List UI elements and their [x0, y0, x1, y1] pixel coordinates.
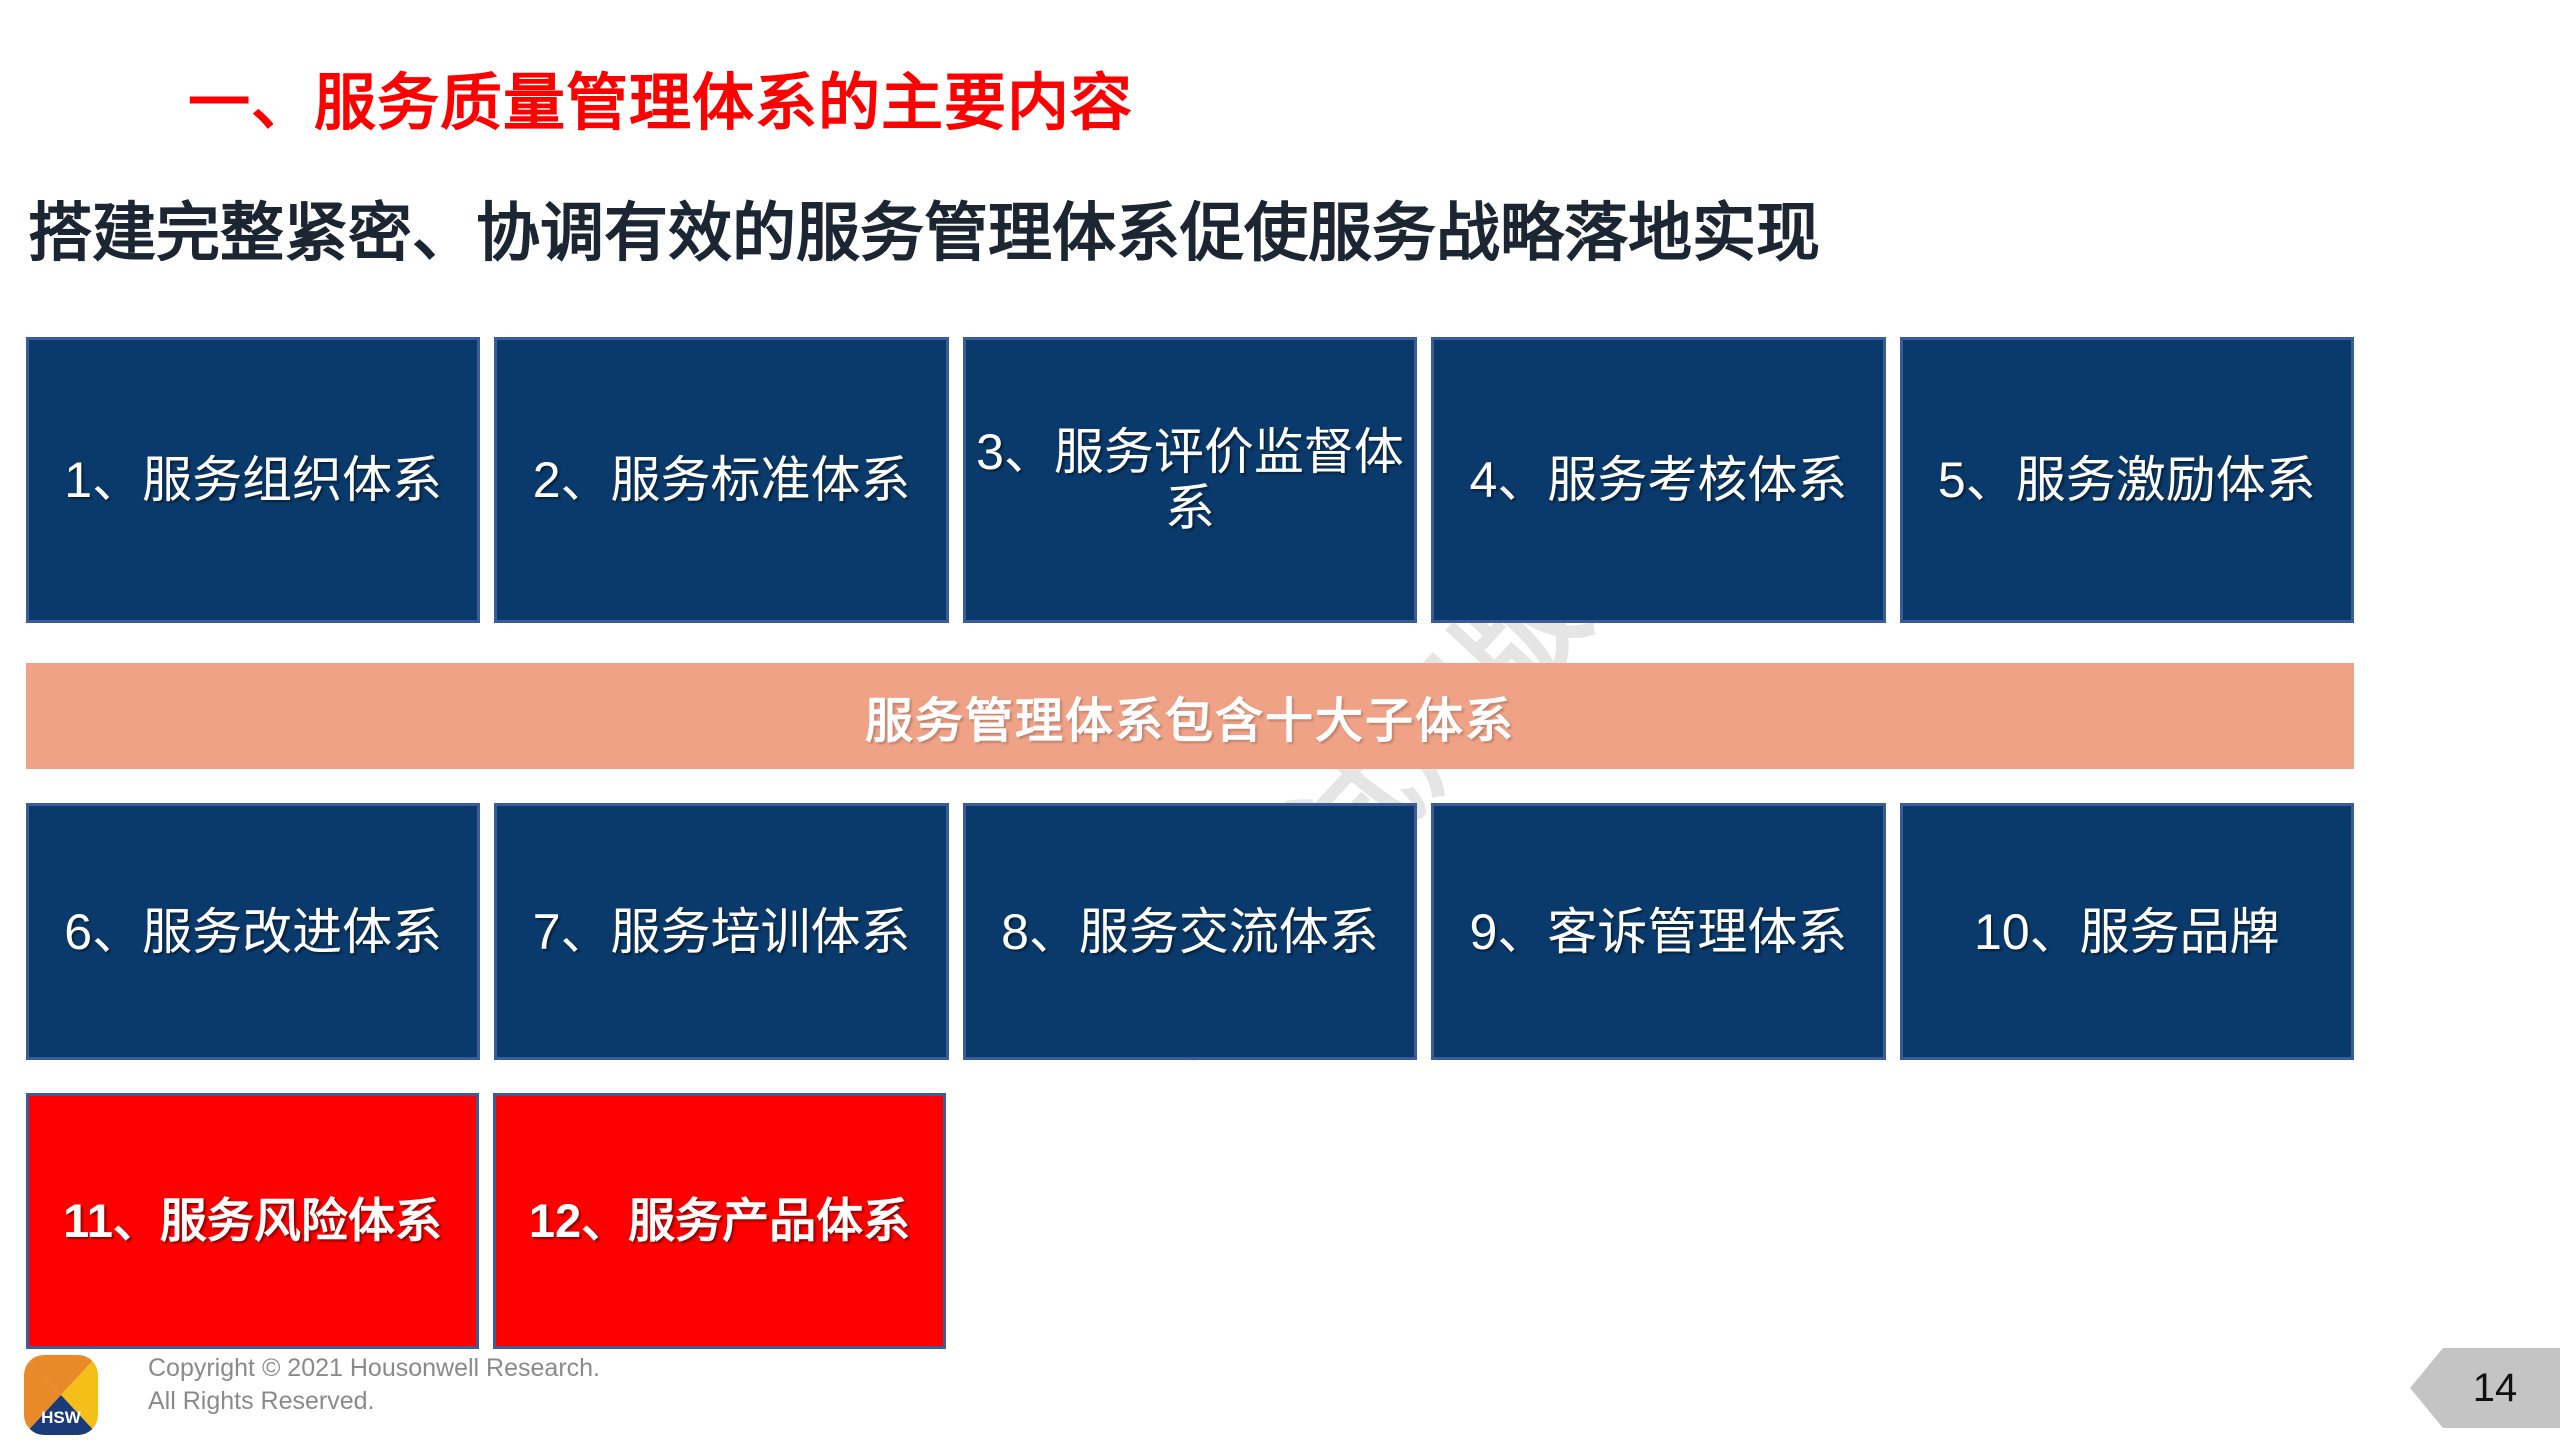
page-number: 14: [2410, 1348, 2560, 1428]
system-box-4[interactable]: 4、服务考核体系: [1431, 337, 1885, 623]
system-box-12[interactable]: 12、服务产品体系: [493, 1093, 946, 1349]
system-box-11[interactable]: 11、服务风险体系: [26, 1093, 479, 1349]
system-row-2: 6、服务改进体系 7、服务培训体系 8、服务交流体系 9、客诉管理体系 10、服…: [26, 803, 2354, 1060]
page-subtitle: 搭建完整紧密、协调有效的服务管理体系促使服务战略落地实现: [28, 182, 1820, 274]
hsw-logo-icon: HSW: [22, 1353, 100, 1437]
system-box-3[interactable]: 3、服务评价监督体系: [963, 337, 1417, 623]
copyright-text: Copyright © 2021 Housonwell Research. Al…: [148, 1352, 600, 1418]
system-box-7[interactable]: 7、服务培训体系: [494, 803, 948, 1060]
system-box-10[interactable]: 10、服务品牌: [1900, 803, 2354, 1060]
system-box-2[interactable]: 2、服务标准体系: [494, 337, 948, 623]
system-box-6[interactable]: 6、服务改进体系: [26, 803, 480, 1060]
system-row-1: 1、服务组织体系 2、服务标准体系 3、服务评价监督体系 4、服务考核体系 5、…: [26, 337, 2354, 623]
subsystem-banner: 服务管理体系包含十大子体系: [26, 663, 2354, 769]
system-box-9[interactable]: 9、客诉管理体系: [1431, 803, 1885, 1060]
system-box-1[interactable]: 1、服务组织体系: [26, 337, 480, 623]
svg-text:HSW: HSW: [41, 1408, 82, 1427]
system-box-5[interactable]: 5、服务激励体系: [1900, 337, 2354, 623]
system-row-3: 11、服务风险体系 12、服务产品体系: [26, 1093, 1051, 1349]
slide-canvas: 豪森试用版权 一、服务质量管理体系的主要内容 搭建完整紧密、协调有效的服务管理体…: [0, 0, 2560, 1440]
page-number-badge: 14: [2410, 1348, 2560, 1428]
page-title: 一、服务质量管理体系的主要内容: [188, 52, 1133, 142]
system-box-8[interactable]: 8、服务交流体系: [963, 803, 1417, 1060]
